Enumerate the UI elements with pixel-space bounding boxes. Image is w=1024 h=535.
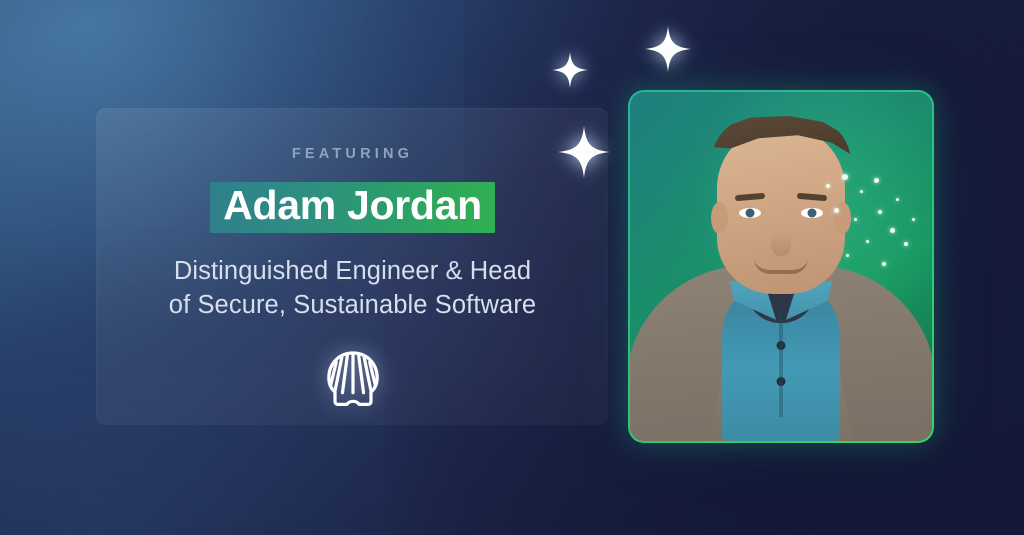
- portrait-button-upper: [777, 341, 786, 350]
- speaker-name: Adam Jordan: [223, 185, 482, 226]
- speaker-name-highlight: Adam Jordan: [210, 182, 495, 233]
- speaker-role: Distinguished Engineer & Head of Secure,…: [169, 255, 536, 322]
- speaker-info-card: FEATURING Adam Jordan Distinguished Engi…: [96, 108, 608, 425]
- portrait-button-lower: [777, 377, 786, 386]
- sparkle-star-small-icon: [552, 52, 588, 88]
- portrait-polo-shirt: [722, 281, 840, 441]
- portrait-nose: [771, 222, 791, 256]
- speaker-role-line-2: of Secure, Sustainable Software: [169, 289, 536, 323]
- speaker-photo: [630, 92, 932, 441]
- featuring-kicker: FEATURING: [292, 146, 413, 162]
- photo-sparkle-cluster: [816, 170, 926, 280]
- shell-pecten-logo-icon: [322, 348, 384, 410]
- speaker-name-wrapper: Adam Jordan: [210, 182, 495, 233]
- promo-graphic: FEATURING Adam Jordan Distinguished Engi…: [0, 0, 1024, 535]
- portrait-mouth: [754, 258, 808, 274]
- sparkle-star-medium-icon: [645, 26, 691, 72]
- portrait-ear-left: [711, 202, 728, 234]
- speaker-role-line-1: Distinguished Engineer & Head: [169, 255, 536, 289]
- portrait-eyebrow-left: [735, 193, 765, 202]
- portrait-eye-left: [739, 208, 761, 218]
- speaker-photo-frame: [628, 90, 934, 443]
